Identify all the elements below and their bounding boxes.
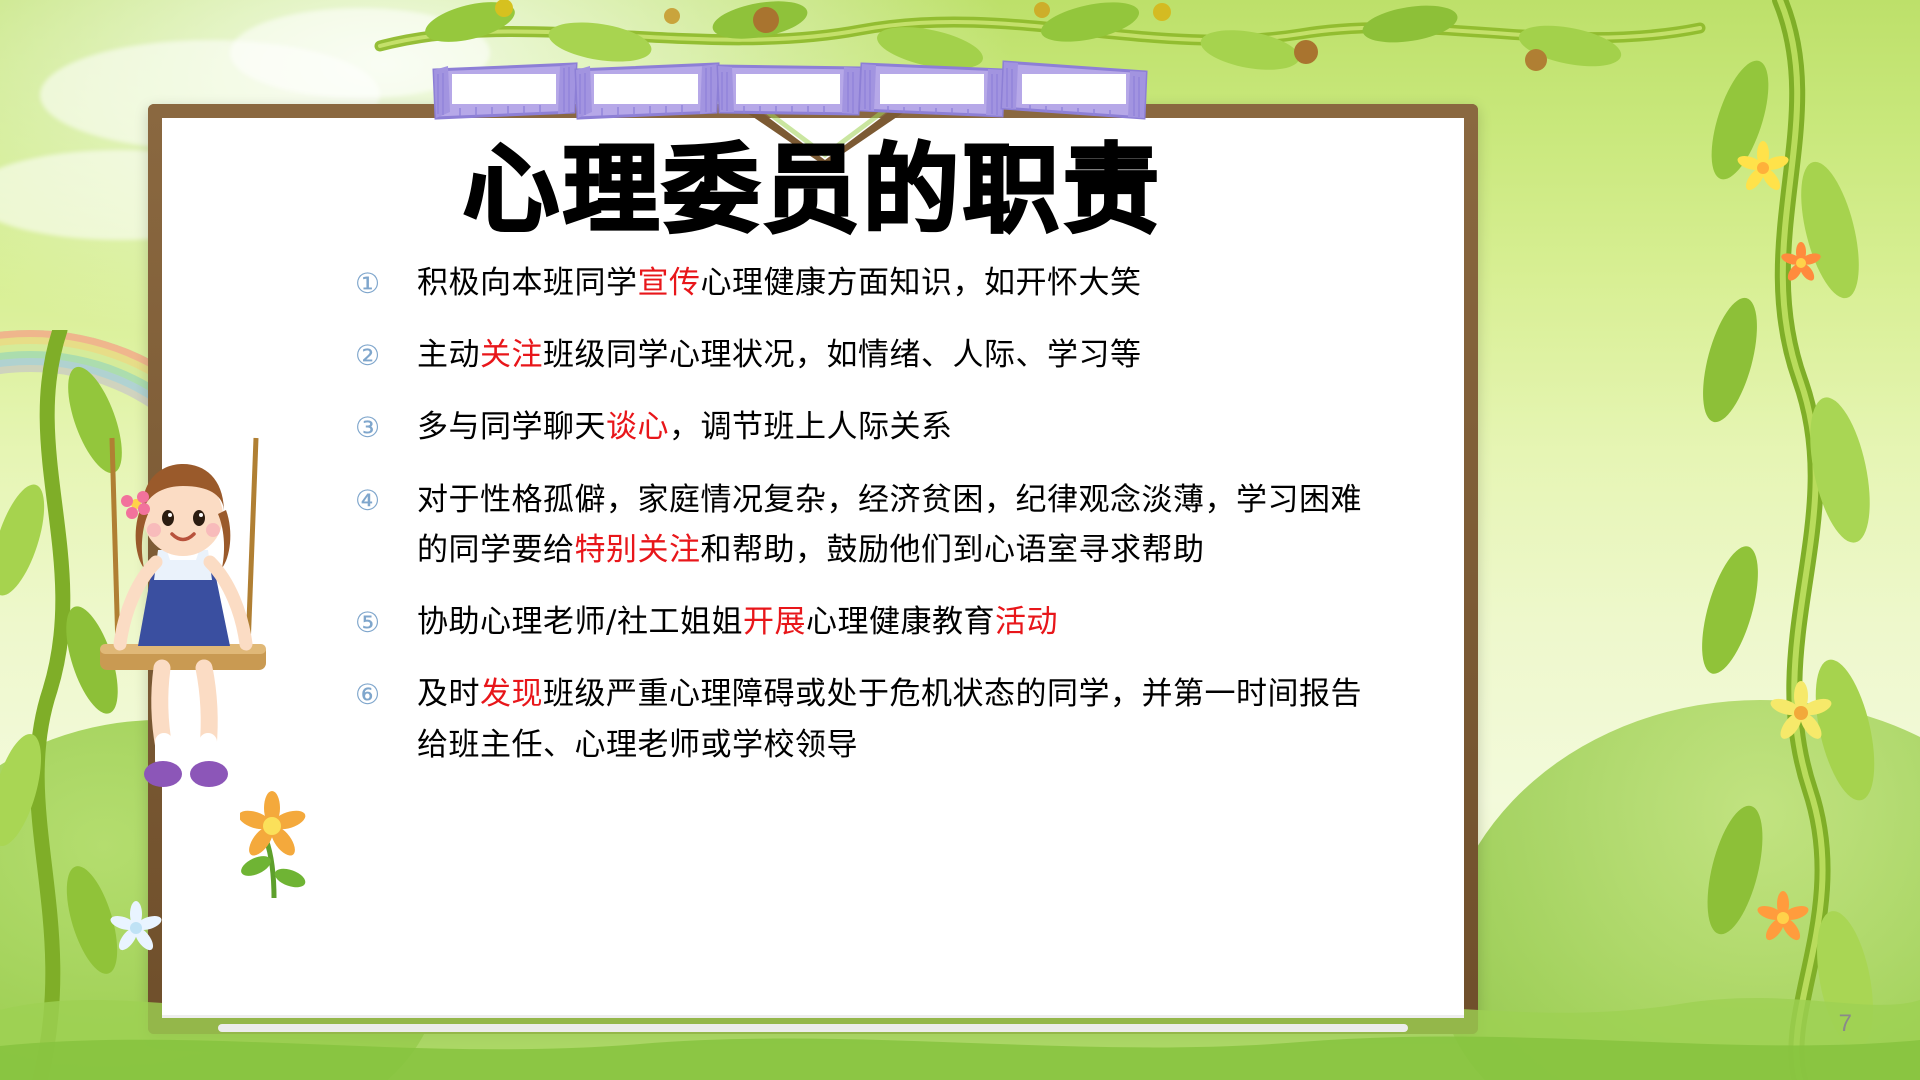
text-segment: 心理健康教育 (806, 604, 995, 640)
text-segment-highlight: 发现 (480, 676, 543, 712)
tab-item[interactable] (998, 60, 1148, 122)
text-segment: 积极向本班同学 (417, 265, 638, 301)
text-segment: 多与同学聊天 (417, 409, 606, 445)
page-title: 心理委员的职责 (162, 138, 1464, 244)
list-item-marker: ① (355, 258, 417, 305)
text-segment: ，调节班上人际关系 (669, 409, 953, 445)
list-item-marker: ⑥ (355, 669, 417, 716)
tab-item[interactable] (714, 60, 864, 122)
list-item-text: 及时发现班级严重心理障碍或处于危机状态的同学，并第一时间报告给班主任、心理老师或… (417, 669, 1365, 769)
slide: 心理委员的职责 ① 积极向本班同学宣传心理健康方面知识，如开怀大笑 ② 主动关注… (0, 0, 1920, 1080)
list-item-marker: ② (355, 330, 417, 377)
text-segment: 班级同学心理状况，如情绪、人际、学习等 (543, 337, 1142, 373)
text-segment: 及时 (417, 676, 480, 712)
flower-icon (108, 900, 164, 956)
responsibility-list: ① 积极向本班同学宣传心理健康方面知识，如开怀大笑 ② 主动关注班级同学心理状况… (355, 258, 1365, 792)
flower-icon (1735, 140, 1791, 196)
tab-strip (430, 60, 1290, 140)
text-segment: 协助心理老师/社工姐姐 (417, 604, 743, 640)
list-item: ⑤ 协助心理老师/社工姐姐开展心理健康教育活动 (355, 597, 1365, 647)
page-number: 7 (1839, 1010, 1852, 1038)
girl-on-swing-icon (60, 430, 320, 850)
list-item-text: 对于性格孤僻，家庭情况复杂，经济贫困，纪律观念淡薄，学习困难的同学要给特别关注和… (417, 475, 1365, 575)
text-segment-highlight: 特别关注 (575, 532, 701, 568)
text-segment: 主动 (417, 337, 480, 373)
list-item: ③ 多与同学聊天谈心，调节班上人际关系 (355, 402, 1365, 452)
list-item-marker: ⑤ (355, 597, 417, 644)
text-segment: 和帮助，鼓励他们到心语室寻求帮助 (701, 532, 1205, 568)
text-segment-highlight: 活动 (995, 604, 1058, 640)
list-item: ① 积极向本班同学宣传心理健康方面知识，如开怀大笑 (355, 258, 1365, 308)
list-item: ④ 对于性格孤僻，家庭情况复杂，经济贫困，纪律观念淡薄，学习困难的同学要给特别关… (355, 475, 1365, 575)
text-segment: 班级严重心理障碍或处于危机状态的同学，并第一时间报告给班主任、心理老师或学校领导 (417, 676, 1362, 762)
list-item-text: 多与同学聊天谈心，调节班上人际关系 (417, 402, 1365, 452)
list-item-text: 积极向本班同学宣传心理健康方面知识，如开怀大笑 (417, 258, 1365, 308)
list-item: ⑥ 及时发现班级严重心理障碍或处于危机状态的同学，并第一时间报告给班主任、心理老… (355, 669, 1365, 769)
text-segment-highlight: 谈心 (606, 409, 669, 445)
text-segment: 心理健康方面知识，如开怀大笑 (701, 265, 1142, 301)
list-item-marker: ③ (355, 402, 417, 449)
tab-item[interactable] (856, 60, 1006, 122)
text-segment-highlight: 开展 (743, 604, 806, 640)
paper-bottom-rule (218, 1024, 1408, 1032)
list-item-marker: ④ (355, 475, 417, 522)
text-segment-highlight: 宣传 (638, 265, 701, 301)
list-item-text: 协助心理老师/社工姐姐开展心理健康教育活动 (417, 597, 1365, 647)
tab-item[interactable] (572, 60, 722, 122)
list-item: ② 主动关注班级同学心理状况，如情绪、人际、学习等 (355, 330, 1365, 380)
tab-item[interactable] (430, 60, 580, 122)
text-segment-highlight: 关注 (480, 337, 543, 373)
flower-icon (1768, 680, 1834, 746)
flower-icon (240, 790, 310, 900)
list-item-text: 主动关注班级同学心理状况，如情绪、人际、学习等 (417, 330, 1365, 380)
flower-icon (1755, 890, 1811, 946)
flower-icon (1778, 240, 1824, 286)
